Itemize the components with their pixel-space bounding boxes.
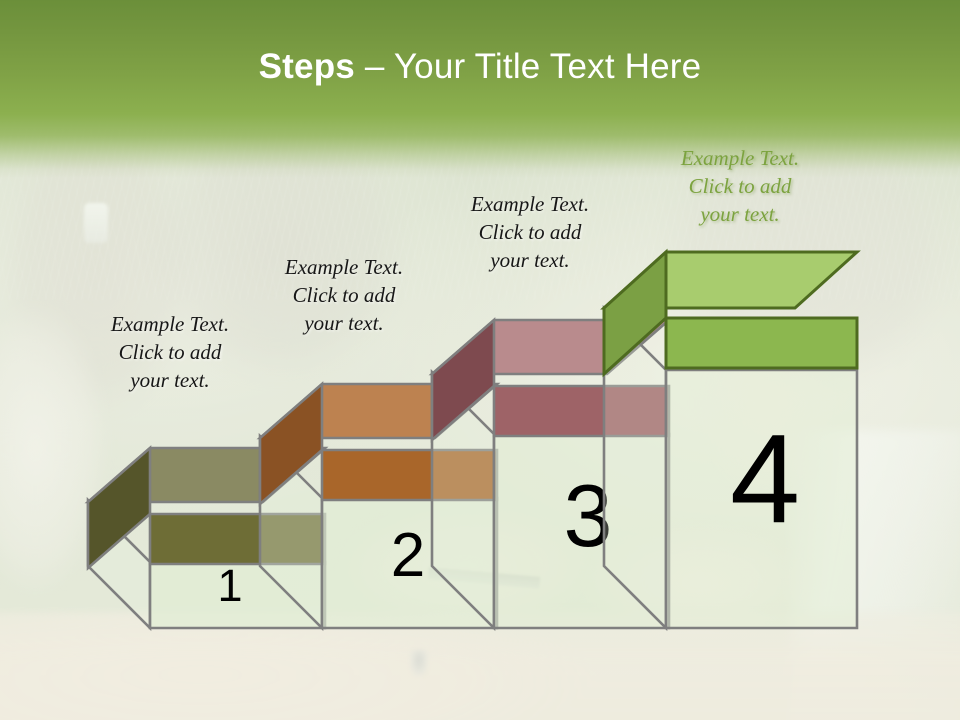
step-2-caption[interactable]: Example Text. Click to add your text.: [266, 253, 422, 337]
step-4-caption[interactable]: Example Text. Click to add your text.: [662, 144, 818, 228]
slide-canvas: Steps – Your Title Text Here: [0, 0, 960, 720]
step-3-caption[interactable]: Example Text. Click to add your text.: [452, 190, 608, 274]
step-1-caption[interactable]: Example Text. Click to add your text.: [94, 310, 246, 394]
step-4-number: 4: [700, 416, 830, 542]
step-4-slab: [596, 246, 864, 372]
steps-group: 1 Example Text. Click to add your text. …: [0, 0, 960, 720]
